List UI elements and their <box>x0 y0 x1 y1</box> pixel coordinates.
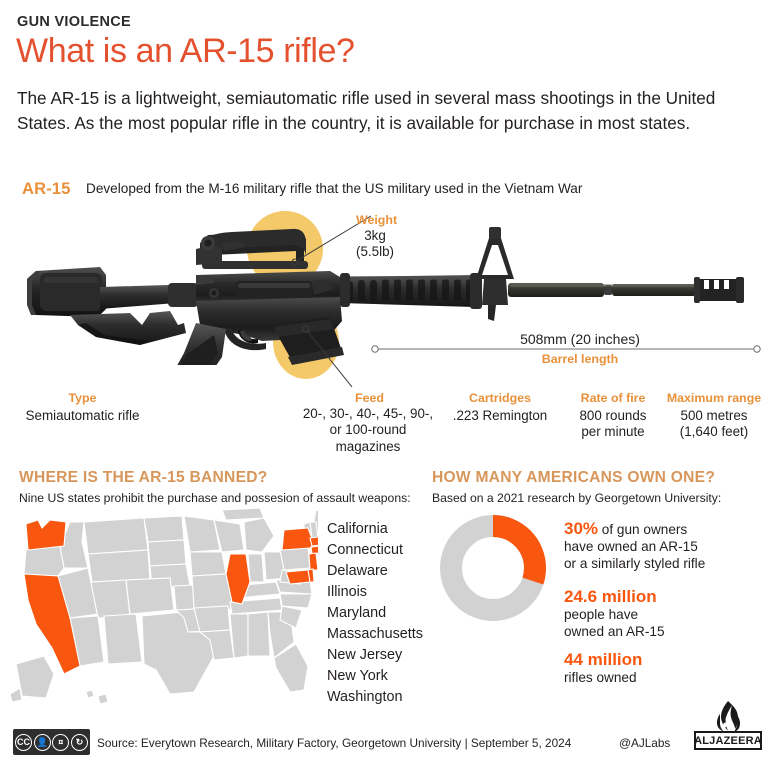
infographic-root: GUN VIOLENCE What is an AR-15 rifle? The… <box>0 0 770 770</box>
stat-rifles-line2: rifles owned <box>564 670 642 687</box>
feed-value-line2: or 100-round <box>298 422 438 438</box>
weight-callout-value: 3kg (5.5lb) <box>330 228 420 261</box>
aljazeera-wordmark: ALJAZEERA <box>694 731 762 750</box>
feed-callout-label: Feed <box>355 391 384 405</box>
ar15-description: Developed from the M-16 military rifle t… <box>86 181 582 196</box>
us-map-svg <box>8 506 318 711</box>
list-item: California <box>327 519 423 540</box>
barrel-length-label: Barrel length <box>430 352 730 366</box>
ownership-section-subheading: Based on a 2021 research by Georgetown U… <box>432 491 721 505</box>
cc-nc-icon: ¤ <box>52 734 69 751</box>
source-credit: Source: Everytown Research, Military Fac… <box>97 736 571 750</box>
weight-value-line2: (5.5lb) <box>330 244 420 260</box>
donut-svg <box>437 512 549 624</box>
feed-value-line3: magazines <box>298 439 438 455</box>
spec-type: Type Semiautomatic rifle <box>0 391 165 424</box>
banned-section-heading: WHERE IS THE AR-15 BANNED? <box>19 469 268 487</box>
ownership-section-heading: HOW MANY AMERICANS OWN ONE? <box>432 469 715 487</box>
stat-percent-suffix: of gun owners <box>598 522 687 537</box>
ar15-tag: AR-15 <box>22 180 71 199</box>
spec-type-value: Semiautomatic rifle <box>0 408 165 424</box>
spec-rate-of-fire-line2: per minute <box>558 424 668 440</box>
spec-maximum-range-line1: 500 metres <box>658 408 770 424</box>
creative-commons-badge[interactable]: CC 👤 ¤ ↻ <box>13 729 90 755</box>
spec-cartridges-value: .223 Remington <box>437 408 563 424</box>
cc-sa-icon: ↻ <box>71 734 88 751</box>
stat-percent-line2: have owned an AR-15 <box>564 539 705 556</box>
stat-percent-value: 30% <box>564 519 598 538</box>
cc-by-icon: 👤 <box>34 734 51 751</box>
list-item: New Jersey <box>327 645 423 666</box>
spec-cartridges: Cartridges .223 Remington <box>437 391 563 424</box>
list-item: Massachusetts <box>327 624 423 645</box>
kicker-label: GUN VIOLENCE <box>17 14 131 30</box>
aljazeera-flame-icon <box>694 700 762 734</box>
spec-maximum-range: Maximum range 500 metres (1,640 feet) <box>658 391 770 441</box>
cc-icon: CC <box>15 734 32 751</box>
stat-percent-owners: 30% of gun owners have owned an AR-15 or… <box>564 519 705 573</box>
stat-rifles-value: 44 million <box>564 650 642 669</box>
spec-rate-of-fire-label: Rate of fire <box>558 391 668 405</box>
spec-rate-of-fire-line1: 800 rounds <box>558 408 668 424</box>
list-item: Maryland <box>327 603 423 624</box>
list-item: New York <box>327 666 423 687</box>
list-item: Connecticut <box>327 540 423 561</box>
feed-leader-line <box>300 323 370 395</box>
stat-people-line2: people have <box>564 607 665 624</box>
feed-callout-value: 20-, 30-, 40-, 45-, 90-, or 100-round ma… <box>298 406 438 455</box>
page-title: What is an AR-15 rifle? <box>16 33 355 70</box>
list-item: Delaware <box>327 561 423 582</box>
spec-rate-of-fire: Rate of fire 800 rounds per minute <box>558 391 668 441</box>
banned-states-list: California Connecticut Delaware Illinois… <box>327 519 423 708</box>
list-item: Illinois <box>327 582 423 603</box>
stat-people-value: 24.6 million <box>564 587 657 606</box>
banned-section-subheading: Nine US states prohibit the purchase and… <box>19 491 411 505</box>
us-map <box>8 506 318 711</box>
ajlabs-handle: @AJLabs <box>619 736 670 750</box>
intro-paragraph: The AR-15 is a lightweight, semiautomati… <box>17 86 757 137</box>
feed-value-line1: 20-, 30-, 40-, 45-, 90-, <box>298 406 438 422</box>
weight-callout-label: Weight <box>356 213 397 227</box>
stat-rifles-owned: 44 million rifles owned <box>564 650 642 687</box>
weight-value-line1: 3kg <box>330 228 420 244</box>
list-item: Washington <box>327 687 423 708</box>
stat-percent-line3: or a similarly styled rifle <box>564 556 705 573</box>
spec-type-label: Type <box>0 391 165 405</box>
spec-cartridges-label: Cartridges <box>437 391 563 405</box>
ownership-donut-chart <box>437 512 549 624</box>
stat-people-line3: owned an AR-15 <box>564 624 665 641</box>
spec-maximum-range-line2: (1,640 feet) <box>658 424 770 440</box>
spec-maximum-range-label: Maximum range <box>658 391 770 405</box>
stat-people-owned: 24.6 million people have owned an AR-15 <box>564 587 665 641</box>
